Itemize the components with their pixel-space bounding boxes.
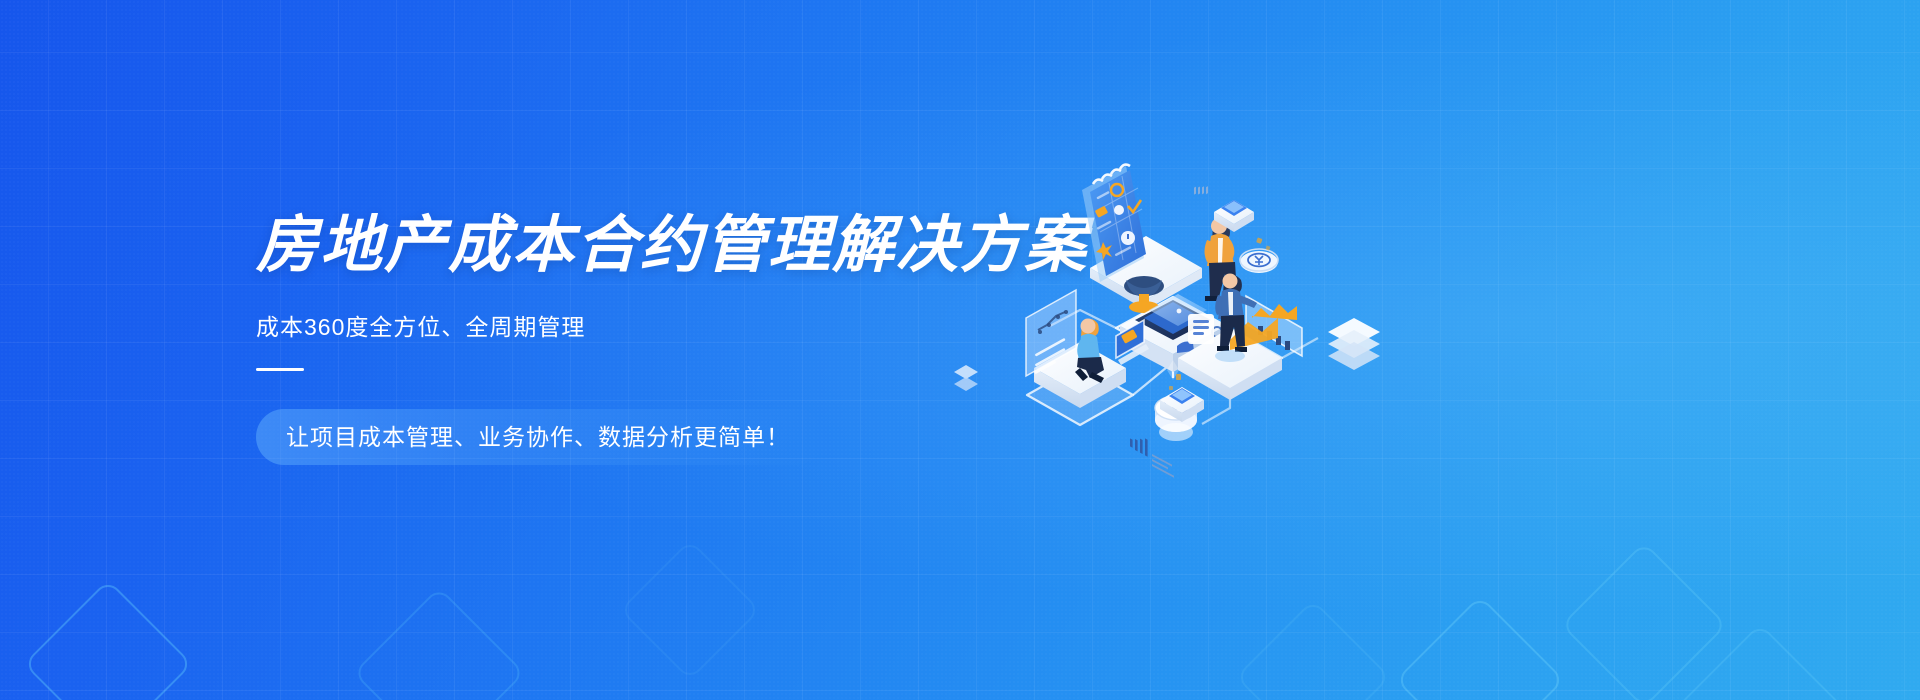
document-lines-icon (1188, 314, 1214, 344)
hero-banner: 房地产成本合约管理解决方案 成本360度全方位、全周期管理 让项目成本管理、业务… (0, 0, 1920, 700)
server-bar-chart (1130, 438, 1148, 456)
hero-illustration (930, 150, 1400, 470)
decorative-diamond (619, 539, 760, 680)
decorative-diamond (1561, 542, 1728, 700)
page-subtitle: 成本360度全方位、全周期管理 (256, 308, 1016, 342)
page-title: 房地产成本合约管理解决方案 (256, 212, 1016, 280)
tagline-pill: 让项目成本管理、业务协作、数据分析更简单！ (256, 409, 824, 465)
coin-currency-icon (1240, 249, 1278, 273)
decorative-diamond (353, 587, 526, 700)
divider (256, 368, 304, 371)
hero-copy-block: 房地产成本合约管理解决方案 成本360度全方位、全周期管理 让项目成本管理、业务… (256, 212, 1016, 465)
decorative-diamond (1235, 599, 1391, 700)
decorative-diamond (23, 579, 193, 700)
decorative-diamond (1395, 595, 1565, 700)
decorative-diamond (1675, 623, 1845, 700)
stacked-layers-icon (1328, 318, 1380, 370)
